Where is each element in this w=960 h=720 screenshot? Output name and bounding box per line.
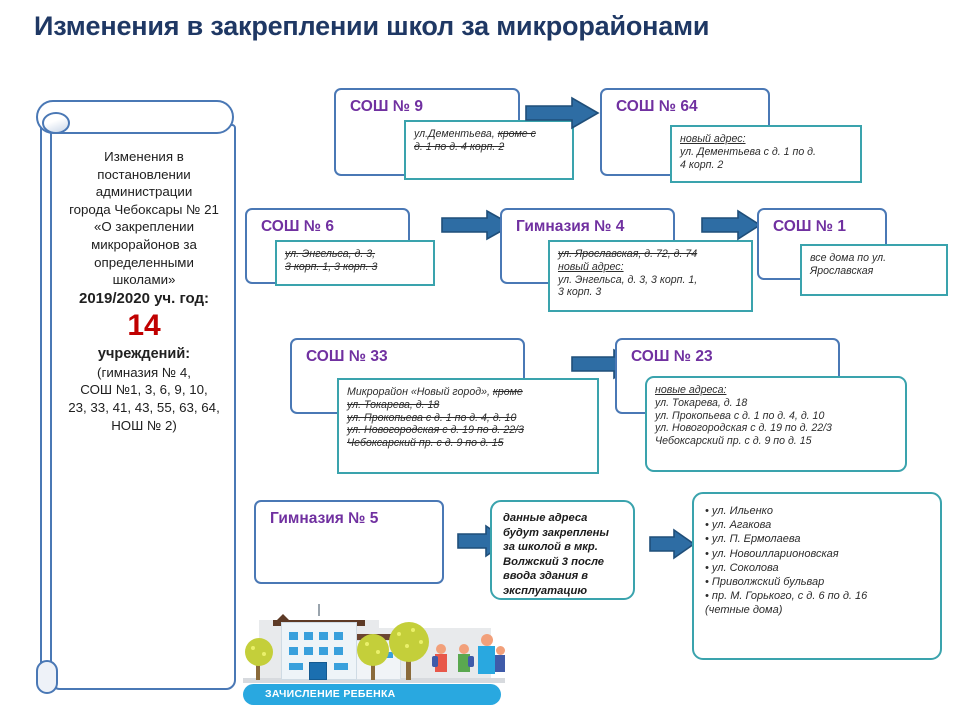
address-note-gimnazia-4: ул. Ярославская, д. 72, д. 74 новый адре… [548,240,753,312]
callout-line: ввода здания в [503,569,624,584]
note-line: новые адреса: [655,384,898,397]
note-line: все дома по ул. [810,252,939,265]
callout-line: данные адреса [503,511,624,526]
window-icon [334,663,348,670]
tree-dot-icon [419,640,423,644]
address-note-sosh-23: новые адреса: ул. Токарева, д. 18 ул. Пр… [645,376,907,472]
window-icon [289,632,298,640]
enrollment-banner-text: ЗАЧИСЛЕНИЕ РЕБЕНКА [265,688,396,700]
institution-line-0: (гимназия № 4, [56,364,232,382]
tree-dot-icon [405,644,409,648]
door-icon [309,662,327,680]
school-name-sosh-6: СОШ № 6 [261,218,334,236]
enrollment-banner: ЗАЧИСЛЕНИЕ РЕБЕНКА [243,684,501,705]
slide-canvas: Изменения в закреплении школ за микрорай… [0,0,960,720]
institution-line-2: 23, 33, 41, 43, 55, 63, 64, [56,399,232,417]
school-name-gimnazia-4: Гимназия № 4 [516,218,624,236]
note-line: Микрорайон «Новый город», кроме [347,386,590,399]
institution-line-3: НОШ № 2) [56,417,232,435]
note-line: д. 1 по д. 4 корп. 2 [414,141,565,154]
note-line: новый адрес: [680,133,853,146]
tree-dot-icon [262,652,266,656]
address-list-item: • ул. П. Ермолаева [705,532,932,546]
tree-dot-icon [397,632,401,636]
window-icon [289,663,303,670]
note-line: ул. Дементьева с д. 1 по д. [680,146,853,159]
child-head-icon [436,644,446,654]
address-list-item: • ул. Ильенко [705,504,932,518]
address-list-item: • пр. М. Горького, с д. 6 по д. 16 [705,589,932,603]
summary-line-2: администрации [56,183,232,201]
note-line: Чебоксарский пр. с д. 9 по д. 15 [347,437,590,450]
note-line: ул. Прокопьева с д. 1 по д. 4, д. 10 [347,412,590,425]
address-list-item: • ул. Агакова [705,518,932,532]
note-line: 3 корп. 3 [558,286,744,299]
institution-count: 14 [56,309,232,343]
address-note-sosh-33: Микрорайон «Новый город», кроме ул. Тока… [337,378,599,474]
tree-crown-icon [245,638,273,666]
page-title: Изменения в закреплении школ за микрорай… [34,11,924,42]
institution-line-1: СОШ №1, 3, 6, 9, 10, [56,381,232,399]
callout-volzhsky-note: данные адреса будут закреплены за школой… [490,500,635,600]
callout-line: Волжский 3 после [503,555,624,570]
address-list-box: • ул. Ильенко • ул. Агакова • ул. П. Ерм… [692,492,942,660]
note-line: новый адрес: [558,261,744,274]
school-name-sosh-23: СОШ № 23 [631,348,713,366]
callout-line: эксплуатацию [503,584,624,599]
note-line: ул. Новогородская с д. 19 по д. 22/3 [347,424,590,437]
note-line: 3 корп. 1, 3 корп. 3 [285,261,426,274]
window-icon [334,632,343,640]
window-icon [289,647,298,655]
note-line: Ярославская [810,265,939,278]
address-note-sosh-1: все дома по ул. Ярославская [800,244,948,296]
school-box-gimnazia-5[interactable]: Гимназия № 5 [254,500,444,584]
school-name-sosh-9: СОШ № 9 [350,98,423,116]
window-icon [304,647,313,655]
note-line: Чебоксарский пр. с д. 9 по д. 15 [655,435,898,448]
tree-dot-icon [365,642,369,646]
arrow-gimnazia4-to-sosh1 [700,209,762,241]
summary-line-6: определенными [56,254,232,272]
note-line: ул. Прокопьева с д. 1 по д. 4, д. 10 [655,410,898,423]
summary-line-0: Изменения в [56,148,232,166]
summary-year-label: 2019/2020 уч. год: [56,289,232,308]
summary-scroll-panel: Изменения в постановлении администрации … [30,100,235,700]
school-name-sosh-64: СОШ № 64 [616,98,698,116]
note-line: ул. Токарева, д. 18 [347,399,590,412]
summary-text: Изменения в постановлении администрации … [56,148,232,434]
child-head-icon [496,646,505,655]
tree-dot-icon [376,650,380,654]
school-name-sosh-33: СОШ № 33 [306,348,388,366]
scroll-bottom-curl [36,660,58,694]
address-list-item: • ул. Соколова [705,561,932,575]
summary-line-3: города Чебоксары № 21 [56,201,232,219]
callout-line: за школой в мкр. [503,540,624,555]
window-icon [304,632,313,640]
tree-dot-icon [251,646,255,650]
institution-count-label: учреждений: [56,345,232,364]
callout-line: будут закреплены [503,526,624,541]
flag-mast-icon [318,604,320,616]
summary-line-7: школами» [56,271,232,289]
backpack-icon [468,656,474,667]
note-line: ул. Новогородская с д. 19 по д. 22/3 [655,422,898,435]
summary-line-5: микрорайонов за [56,236,232,254]
window-icon [334,647,343,655]
note-line: ул. Ярославская, д. 72, д. 74 [558,248,744,261]
child-head-icon [459,644,469,654]
note-line: ул. Токарева, д. 18 [655,397,898,410]
note-line: 4 корп. 2 [680,159,853,172]
tree-crown-icon [357,634,389,666]
note-line: ул. Энгельса, д. 3, 3 корп. 1, [558,274,744,287]
window-icon [319,647,328,655]
arrow-callout-to-address-list [648,528,696,560]
tree-dot-icon [411,628,415,632]
child-body-icon [495,655,505,672]
address-note-sosh-6: ул. Энгельса, д. 3, 3 корп. 1, 3 корп. 3 [275,240,435,286]
address-list-item: • Приволжский бульвар [705,575,932,589]
adult-body-icon [478,646,495,674]
note-line: ул. Энгельса, д. 3, [285,248,426,261]
address-note-sosh-64: новый адрес: ул. Дементьева с д. 1 по д.… [670,125,862,183]
tree-crown-icon [389,622,429,662]
summary-line-1: постановлении [56,166,232,184]
window-icon [319,632,328,640]
arrow-sosh9-to-sosh64 [524,96,600,130]
adult-head-icon [481,634,493,646]
summary-line-4: «О закреплении [56,218,232,236]
school-name-gimnazia-5: Гимназия № 5 [270,510,378,528]
backpack-icon [432,656,438,667]
address-list-item: • ул. Новоилларионовская [705,547,932,561]
school-name-sosh-1: СОШ № 1 [773,218,846,236]
school-enrollment-illustration: ЗАЧИСЛЕНИЕ РЕБЕНКА [243,600,505,705]
address-list-item: (четные дома) [705,603,932,617]
scroll-curl-dot-icon [42,112,70,134]
